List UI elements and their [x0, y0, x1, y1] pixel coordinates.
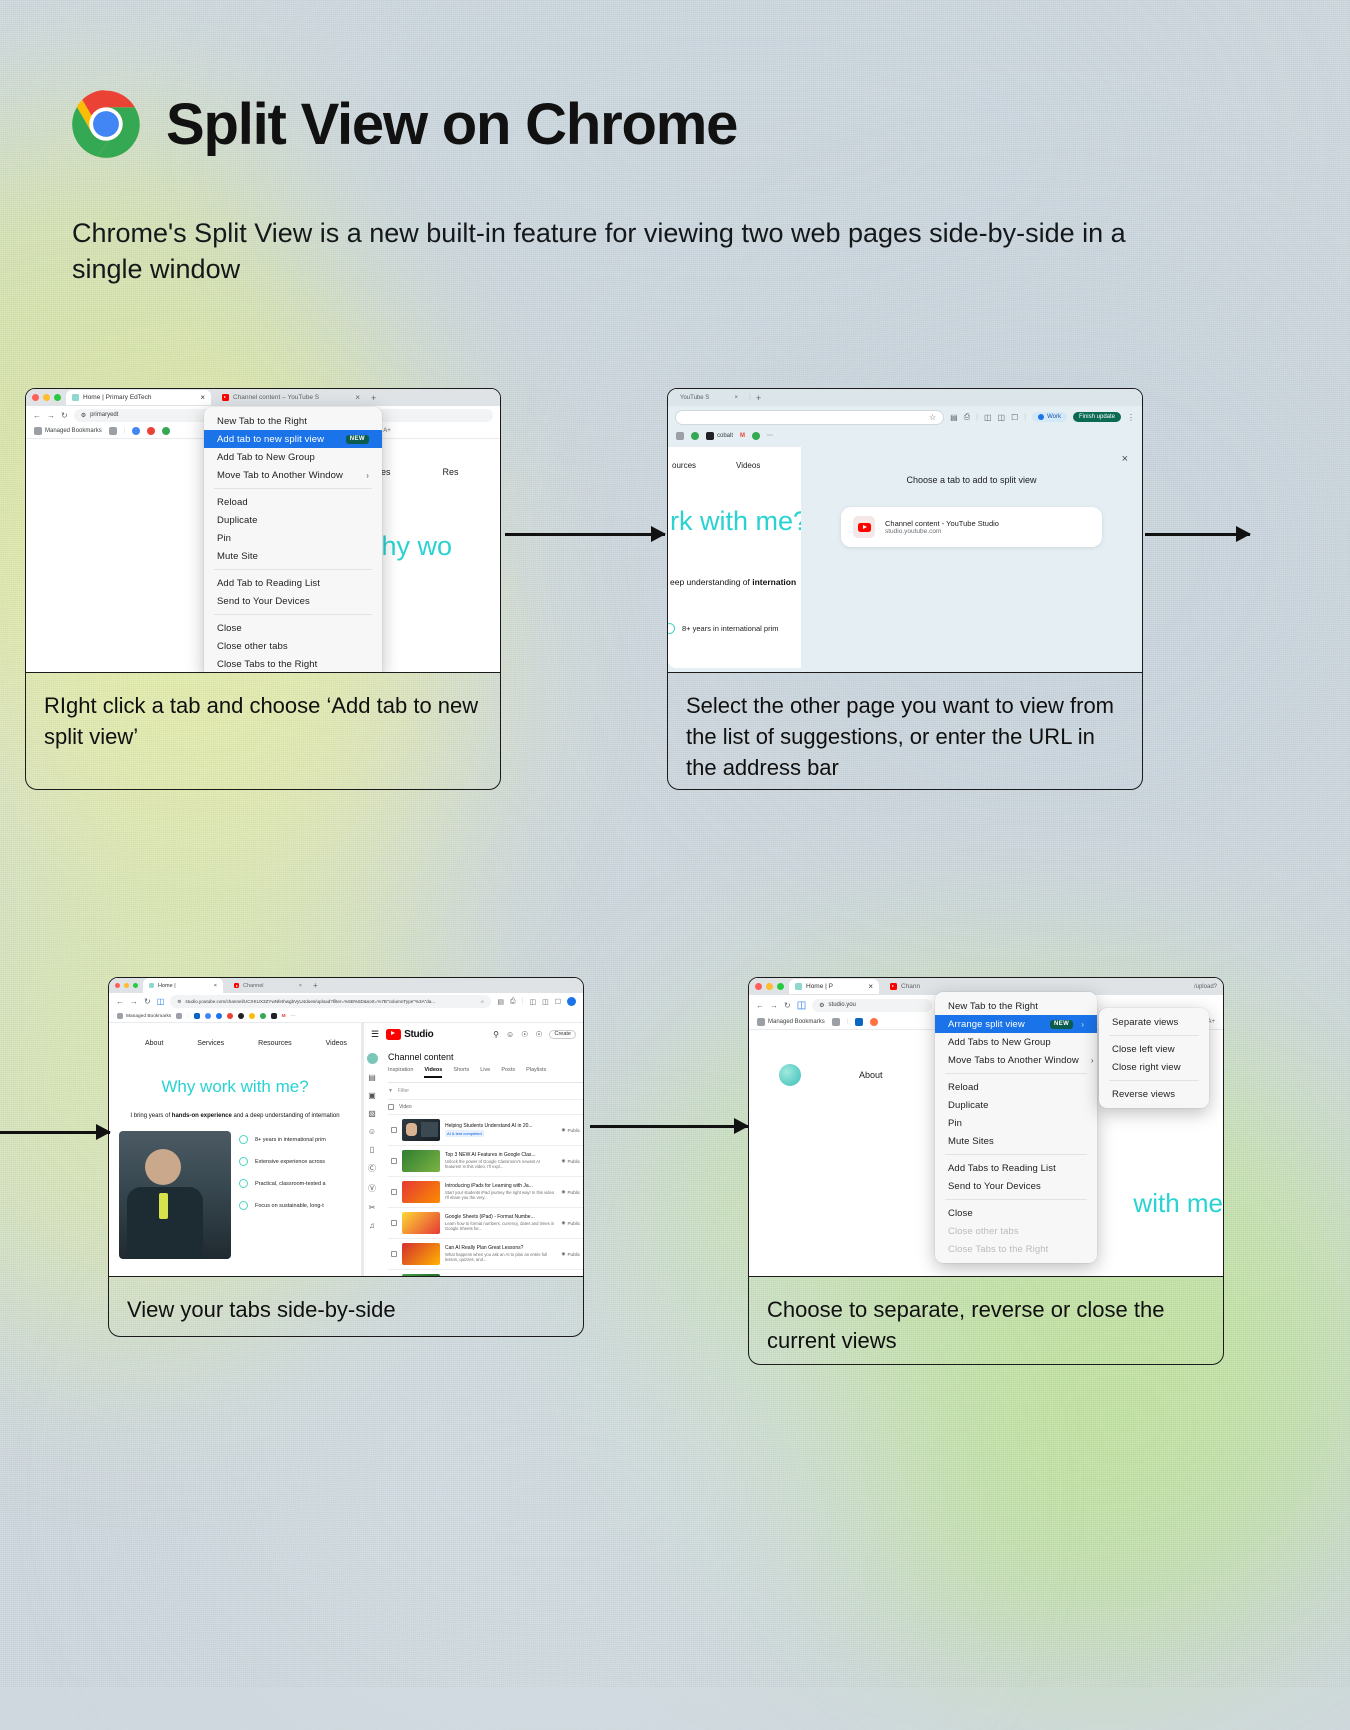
notifications-icon[interactable]: ☉ [535, 1030, 542, 1039]
extensions-icon[interactable]: ▤ [950, 413, 958, 422]
row-checkbox[interactable] [391, 1220, 397, 1226]
bookmark-cobalt[interactable] [271, 1013, 277, 1019]
address-bar[interactable]: ⚙ studio.you [812, 999, 932, 1012]
create-button[interactable]: Create [549, 1030, 576, 1039]
chooser-tab-option[interactable]: Channel content - YouTube Studio studio.… [841, 507, 1102, 547]
tab-label: Channel content – YouTube S [233, 394, 319, 401]
tab-strip: Home | Primary EdTech × Channel content … [26, 389, 500, 406]
bookmark-label: Managed Bookmarks [45, 428, 102, 434]
forward-icon[interactable]: → [47, 411, 55, 420]
step-4-caption: Choose to separate, reverse or close the… [748, 1277, 1224, 1365]
video-thumbnail [402, 1150, 440, 1172]
close-icon[interactable]: × [355, 393, 360, 402]
gmail-icon[interactable]: M [740, 433, 745, 439]
step-4-screenshot: Home | P × Chann /upload? ← → ↻ ◫ ⚙ [748, 977, 1224, 1277]
visibility-cell: ◉Public [561, 1158, 580, 1164]
back-icon[interactable]: ← [756, 1001, 764, 1010]
apps-grid-icon[interactable] [676, 432, 684, 440]
community-icon[interactable]: ☺ [368, 1127, 376, 1136]
site-bullet: Focus on sustainable, long-t [239, 1201, 351, 1210]
close-icon[interactable]: × [214, 983, 217, 989]
cobalt-icon [706, 432, 714, 440]
row-checkbox[interactable] [391, 1189, 397, 1195]
table-row[interactable]: Google Sheets (iPad 2025): Start He... ◉… [388, 1269, 583, 1276]
reload-icon[interactable]: ↻ [61, 411, 68, 420]
menu-item-pin[interactable]: Pin [204, 529, 382, 547]
menu-item-send-to-your-devices[interactable]: Send to Your Devices [935, 1177, 1097, 1195]
edtech-favicon-icon [72, 394, 79, 401]
avatar-icon [1038, 414, 1044, 420]
search-icon[interactable]: ⚲ [493, 1030, 499, 1039]
site-headline: Why work with me? [109, 1077, 361, 1097]
maximize-window-dot[interactable] [133, 983, 138, 988]
menu-item-reload[interactable]: Reload [204, 493, 382, 511]
bookmark-managed[interactable]: Managed Bookmarks [117, 1013, 171, 1019]
new-tab-button[interactable]: + [371, 393, 376, 403]
site-settings-icon[interactable]: ⚙ [177, 999, 181, 1005]
analytics-icon[interactable]: ▧ [368, 1109, 376, 1118]
split-view-chooser-pane: × Choose a tab to add to split view Chan… [805, 447, 1138, 668]
select-all-checkbox[interactable] [388, 1104, 394, 1110]
menu-item-arrange-split-view[interactable]: Arrange split view NEW › [935, 1015, 1097, 1033]
back-icon[interactable]: ← [116, 997, 124, 1006]
table-row[interactable]: Top 3 NEW AI Features in Google Clas... … [388, 1145, 583, 1176]
cobalt-icon [271, 1013, 277, 1019]
browser-tab-home[interactable]: Home | P × [789, 979, 879, 994]
folder-icon [34, 427, 42, 435]
presenter-photo [119, 1131, 231, 1259]
url-text: primaryedt [90, 412, 118, 418]
bookmark-icon-5[interactable] [249, 1013, 255, 1019]
close-window-dot[interactable] [115, 983, 120, 988]
submenu-item-reverse-views[interactable]: Reverse views [1099, 1085, 1209, 1103]
chooser-title: Choose a tab to add to split view [805, 475, 1138, 485]
menu-separator [214, 569, 372, 570]
subtitles-icon[interactable]: ▯ [370, 1145, 374, 1154]
step-2-caption: Select the other page you want to view f… [667, 673, 1143, 790]
site-bullet: Extensive experience across [239, 1157, 351, 1166]
split-view-toggle-icon[interactable]: ◫ [797, 1000, 806, 1011]
site-body-text: and a deep understanding of internation [232, 1113, 340, 1119]
youtube-favicon-icon [890, 983, 897, 990]
menu-separator [945, 1199, 1087, 1200]
browser-tab-youtube[interactable]: YouTube S × [674, 390, 744, 405]
visibility-cell: ◉Public [561, 1220, 580, 1226]
address-bar[interactable]: ☆ [675, 410, 944, 425]
site-bullet: Practical, classroom-tested a [239, 1179, 351, 1188]
menu-item-send-to-your-devices[interactable]: Send to Your Devices [204, 592, 382, 610]
youtube-favicon-icon [234, 983, 239, 988]
filter-icon[interactable]: ▼ [388, 1088, 393, 1094]
studio-tab-inspiration[interactable]: Inspiration [388, 1067, 413, 1078]
content-icon[interactable]: ▣ [368, 1091, 376, 1100]
bookmark-icon-2[interactable] [752, 432, 760, 440]
site-headline: with me [1133, 1188, 1223, 1219]
menu-item-close[interactable]: Close [204, 619, 382, 637]
site-bullet: 8+ years in international prim [668, 623, 801, 634]
table-row[interactable]: Google Sheets (iPad) - Format Numbe... L… [388, 1207, 583, 1238]
minimize-window-dot[interactable] [124, 983, 129, 988]
split-view-toggle-icon[interactable]: ◫ [157, 997, 165, 1006]
tab-search-icon[interactable]: ☐ [1011, 413, 1018, 422]
video-thumbnail [402, 1212, 440, 1234]
menu-item-add-tab-reading-list[interactable]: Add Tab to Reading List [204, 574, 382, 592]
site-body-bold: hands-on experience [172, 1113, 232, 1119]
menu-separator [945, 1073, 1087, 1074]
window-controls[interactable] [32, 394, 61, 401]
menu-item-new-tab-right[interactable]: New Tab to the Right [935, 997, 1097, 1015]
bookmark-icon-1[interactable] [132, 427, 140, 435]
video-badge: AI & test completed [445, 1130, 484, 1137]
intro-paragraph: Chrome's Split View is a new built-in fe… [72, 215, 1182, 288]
bookmark-icon-3[interactable] [227, 1013, 233, 1019]
minimize-window-dot[interactable] [43, 394, 50, 401]
video-thumbnail [402, 1181, 440, 1203]
site-body-bold: hands-on experience [844, 1275, 939, 1277]
menu-item-close[interactable]: Close [935, 1204, 1097, 1222]
maximize-window-dot[interactable] [54, 394, 61, 401]
bookmark-cobalt[interactable]: cobalt [706, 432, 733, 440]
site-nav-item[interactable]: About [145, 1040, 163, 1047]
site-settings-icon[interactable]: ⚙ [81, 412, 86, 419]
edtech-favicon-icon [795, 983, 802, 990]
studio-header: ☰ Studio ⚲ ☺ ☉ ☉ Create [364, 1023, 583, 1046]
bullet-icon [668, 623, 675, 634]
submenu-item-close-left-view[interactable]: Close left view [1099, 1040, 1209, 1058]
row-checkbox[interactable] [391, 1127, 397, 1133]
reload-icon[interactable]: ↻ [784, 1001, 791, 1010]
menu-item-close-other-tabs[interactable]: Close other tabs [204, 637, 382, 655]
site-body-text: eep understanding of [670, 577, 752, 587]
video-thumbnail [402, 1119, 440, 1141]
split-view-icon[interactable]: ◫ [984, 413, 992, 422]
tab-search-icon[interactable]: ☐ [555, 998, 561, 1006]
site-body-text: and a deep understanding of [940, 1275, 1066, 1277]
visibility-cell: ◉Public [561, 1251, 580, 1257]
close-icon[interactable]: × [868, 982, 873, 991]
close-icon[interactable]: × [299, 983, 302, 989]
bookmark-icon-linkedin[interactable] [194, 1013, 200, 1019]
row-checkbox[interactable] [391, 1251, 397, 1257]
apps-grid-icon[interactable] [109, 427, 117, 435]
chevron-right-icon: › [1091, 1056, 1094, 1065]
share-icon[interactable]: ⎙ [510, 998, 516, 1006]
menu-item-duplicate[interactable]: Duplicate [204, 511, 382, 529]
site-nav-item[interactable]: About [859, 1070, 883, 1080]
omnibox-row: ☆ ▤ ⎙ | ◫ ◫ ☐ | Work Finish update ⋮ [668, 406, 1142, 428]
bullet-icon [239, 1157, 248, 1166]
youtube-studio-logo: Studio [386, 1029, 433, 1040]
copyright-icon[interactable]: Ⓒ [368, 1163, 376, 1174]
step-1-caption: RIght click a tab and choose ‘Add tab to… [25, 673, 501, 790]
gmail-icon[interactable]: M [282, 1014, 286, 1019]
browser-tab-channel[interactable]: Channel × [228, 978, 308, 993]
forward-icon[interactable]: → [130, 997, 138, 1006]
bookmark-icon-1[interactable] [691, 432, 699, 440]
url-text: studio.you [829, 1002, 856, 1008]
step-2-card: YouTube S × | + ☆ ▤ ⎙ | ◫ ◫ ☐ | [667, 388, 1143, 790]
table-row[interactable]: Introducing iPads for Learning with Ja..… [388, 1176, 583, 1207]
hamburger-icon[interactable]: ☰ [371, 1029, 379, 1040]
close-window-dot[interactable] [32, 394, 39, 401]
profile-pill[interactable]: Work [1032, 412, 1067, 422]
site-body-bold: internation [752, 577, 796, 587]
earn-icon[interactable]: Ⓥ [368, 1183, 376, 1194]
step-4-card: Home | P × Chann /upload? ← → ↻ ◫ ⚙ [748, 977, 1224, 1365]
menu-item-mute-sites[interactable]: Mute Sites [935, 1132, 1097, 1150]
menu-item-duplicate[interactable]: Duplicate [935, 1096, 1097, 1114]
chooser-item-title: Channel content - YouTube Studio [885, 519, 999, 528]
reading-list-icon[interactable]: ◫ [542, 998, 549, 1006]
site-settings-icon[interactable]: ⚙ [819, 1002, 824, 1009]
close-icon[interactable]: × [1122, 453, 1128, 465]
avatar[interactable] [367, 1053, 378, 1064]
edtech-favicon-icon [149, 983, 154, 988]
new-badge: NEW [346, 435, 369, 444]
step-2-screenshot: YouTube S × | + ☆ ▤ ⎙ | ◫ ◫ ☐ | [667, 388, 1143, 673]
tab-label: Home | Primary EdTech [83, 394, 152, 401]
reload-icon[interactable]: ↻ [144, 997, 151, 1006]
chooser-item-url: studio.youtube.com [885, 528, 999, 535]
studio-tab-live[interactable]: Live [480, 1067, 490, 1078]
site-bullet: 8+ years in international prim [239, 1135, 351, 1144]
site-body-bold: inter [1066, 1275, 1087, 1277]
site-nav-item[interactable]: Services [197, 1040, 224, 1047]
avatar[interactable] [567, 997, 576, 1006]
split-view-context-menu[interactable]: New Tab to the Right Arrange split view … [935, 992, 1097, 1263]
step-3-caption: View your tabs side-by-side [108, 1277, 584, 1337]
chevron-right-icon: › [1081, 1020, 1084, 1029]
finish-update-pill[interactable]: Finish update [1073, 412, 1121, 422]
site-logo-icon [779, 1064, 801, 1086]
bookmarks-bar: cobalt M ⋯ [668, 428, 1142, 443]
url-text: studio.youtube.com/channel/UCXKUX3ZYwNfe… [185, 999, 435, 1004]
step-1-screenshot: Home | Primary EdTech × Channel content … [25, 388, 501, 673]
studio-page-title: Channel content [388, 1046, 583, 1067]
more-bookmarks-icon[interactable]: ⋯ [767, 432, 773, 439]
bookmark-managed[interactable]: Managed Bookmarks [757, 1018, 825, 1026]
new-badge: NEW [1050, 1020, 1073, 1029]
column-header-video: Video [399, 1104, 412, 1110]
video-description: Unlock the power of Google Classroom's n… [445, 1159, 556, 1170]
site-nav-item[interactable]: Res [443, 467, 459, 477]
bookmark-icon-4[interactable] [238, 1013, 244, 1019]
more-menu-icon[interactable]: ⋮ [1127, 413, 1135, 422]
menu-separator [214, 488, 372, 489]
youtube-studio-pane: ☰ Studio ⚲ ☺ ☉ ☉ Create [364, 1023, 583, 1276]
window-controls[interactable] [755, 983, 784, 990]
new-tab-button[interactable]: + [313, 981, 318, 990]
omnibox-row: ← → ↻ ◫ ⚙ studio.youtube.com/channel/UCX… [109, 993, 583, 1010]
minimize-window-dot[interactable] [766, 983, 773, 990]
bookmarks-bar: Managed Bookmarks | M ⋯ [109, 1010, 583, 1023]
menu-item-close-tabs-to-right[interactable]: Close Tabs to the Right [204, 655, 382, 673]
menu-item-move-tab-another-window[interactable]: Move Tab to Another Window › [204, 466, 382, 484]
apps-grid-icon[interactable] [832, 1018, 840, 1026]
studio-tab-shorts[interactable]: Shorts [453, 1067, 469, 1078]
aplus-icon[interactable]: A+ [383, 428, 391, 434]
table-row[interactable]: Helping Students Understand AI in 20... … [388, 1114, 583, 1145]
menu-item-reload[interactable]: Reload [935, 1078, 1097, 1096]
extensions-icon[interactable]: ▤ [497, 998, 504, 1006]
row-checkbox[interactable] [391, 1158, 397, 1164]
bookmark-icon-3[interactable] [162, 427, 170, 435]
audio-library-icon[interactable]: ♫ [369, 1221, 375, 1230]
youtube-favicon-icon [222, 394, 229, 401]
apps-grid-icon[interactable] [176, 1013, 182, 1019]
menu-item-add-tabs-reading-list[interactable]: Add Tabs to Reading List [935, 1159, 1097, 1177]
video-description: Learn how to format numbers, currency, d… [445, 1221, 556, 1232]
bullet-icon [239, 1201, 248, 1210]
page-header: Split View on Chrome [72, 90, 737, 158]
video-thumbnail [402, 1243, 440, 1265]
menu-separator [214, 614, 372, 615]
studio-tab-posts[interactable]: Posts [501, 1067, 515, 1078]
step-1-card: Home | Primary EdTech × Channel content … [25, 388, 501, 790]
folder-icon [757, 1018, 765, 1026]
menu-separator [1109, 1080, 1199, 1081]
youtube-icon [853, 516, 875, 538]
tab-strip: YouTube S × | + [668, 389, 1142, 406]
menu-item-mute-site[interactable]: Mute Site [204, 547, 382, 565]
menu-item-close-other-tabs: Close other tabs [935, 1222, 1097, 1240]
studio-tab-playlists[interactable]: Playlists [526, 1067, 546, 1078]
step-3-card: Home | × Channel × + ← → ↻ ◫ [108, 977, 584, 1337]
site-nav: About Services Resources Videos Blog [109, 1023, 361, 1063]
reading-list-icon[interactable]: ◫ [998, 413, 1006, 422]
filter-label[interactable]: Filter [398, 1088, 409, 1094]
menu-item-close-tabs-to-right: Close Tabs to the Right [935, 1240, 1097, 1258]
window-controls[interactable] [115, 983, 138, 988]
bookmark-managed[interactable]: Managed Bookmarks [34, 427, 102, 435]
close-icon[interactable]: × [734, 395, 738, 401]
site-headline: rk with me? [670, 506, 801, 537]
new-tab-button[interactable]: + [756, 393, 761, 403]
customisation-icon[interactable]: ✂ [369, 1203, 376, 1212]
help-icon[interactable]: ☉ [521, 1030, 528, 1039]
upload-url-fragment: /upload? [1194, 984, 1217, 990]
dashboard-icon[interactable]: ▤ [368, 1073, 376, 1082]
site-nav-item[interactable]: ources [672, 461, 696, 470]
share-icon[interactable]: ⎙ [964, 412, 970, 422]
bookmark-icon-1[interactable] [205, 1013, 211, 1019]
menu-item-add-tabs-new-group[interactable]: Add Tabs to New Group [935, 1033, 1097, 1051]
browser-tab-home[interactable]: Home | Primary EdTech × [66, 390, 211, 405]
feedback-icon[interactable]: ☺ [506, 1030, 514, 1039]
site-nav-item[interactable]: Videos [326, 1040, 347, 1047]
table-row[interactable]: Can AI Really Plan Great Lessons? What h… [388, 1238, 583, 1269]
bookmark-icon-2[interactable] [147, 427, 155, 435]
forward-icon[interactable]: → [770, 1001, 778, 1010]
folder-icon [117, 1013, 123, 1019]
site-nav-item[interactable]: Videos [736, 461, 760, 470]
browser-tab-channel-content[interactable]: Channel content – YouTube S × [216, 390, 366, 405]
close-window-dot[interactable] [755, 983, 762, 990]
chevron-right-icon: › [366, 471, 369, 480]
back-icon[interactable]: ← [33, 411, 41, 420]
site-nav-item[interactable]: Resources [258, 1040, 291, 1047]
bookmark-icon-1[interactable] [870, 1018, 878, 1026]
bookmark-icon-linkedin[interactable] [855, 1018, 863, 1026]
site-body-text: I bring years of [130, 1113, 171, 1119]
bookmark-icon-2[interactable] [216, 1013, 222, 1019]
visibility-cell: ◉Public [561, 1189, 580, 1195]
address-bar[interactable]: ⚙ studio.youtube.com/channel/UCXKUX3ZYwN… [170, 995, 491, 1008]
tab-group-icon[interactable]: ◫ [529, 998, 536, 1006]
submenu-item-separate-views[interactable]: Separate views [1099, 1013, 1209, 1031]
menu-item-pin[interactable]: Pin [935, 1114, 1097, 1132]
menu-item-move-tabs-another-window[interactable]: Move Tabs to Another Window › [935, 1051, 1097, 1069]
studio-side-rail: ▤ ▣ ▧ ☺ ▯ Ⓒ Ⓥ ✂ ♫ [364, 1046, 380, 1276]
bookmark-star-icon[interactable]: ☆ [929, 413, 936, 422]
maximize-window-dot[interactable] [777, 983, 784, 990]
studio-tab-videos[interactable]: Videos [424, 1067, 442, 1078]
chrome-logo-icon [72, 90, 140, 158]
menu-separator [945, 1154, 1087, 1155]
page-title: Split View on Chrome [166, 91, 737, 158]
studio-tabs: Inspiration Videos Shorts Live Posts Pla… [388, 1067, 583, 1083]
bullet-icon [239, 1179, 248, 1188]
menu-separator [1109, 1035, 1199, 1036]
bookmark-star-icon[interactable]: ☆ [480, 999, 484, 1005]
browser-tab-home[interactable]: Home | × [143, 978, 223, 993]
more-bookmarks-icon[interactable]: ⋯ [291, 1014, 296, 1019]
menu-item-add-tab-new-group[interactable]: Add Tab to New Group [204, 448, 382, 466]
bookmark-icon-6[interactable] [260, 1013, 266, 1019]
video-description: Start your students iPad journey the rig… [445, 1190, 556, 1201]
video-title[interactable]: Helping Students Understand AI in 20... [445, 1123, 556, 1129]
menu-item-new-tab-right[interactable]: New Tab to the Right [204, 412, 382, 430]
step-3-screenshot: Home | × Channel × + ← → ↻ ◫ [108, 977, 584, 1277]
bullet-icon [239, 1135, 248, 1144]
video-thumbnail [402, 1274, 440, 1276]
menu-item-add-tab-new-split-view[interactable]: Add tab to new split view NEW [204, 430, 382, 448]
tab-strip: Home | × Channel × + [109, 978, 583, 993]
video-description: What happens when you ask an AI to plan … [445, 1252, 556, 1263]
visibility-cell: ◉Public [561, 1127, 580, 1133]
tab-context-menu[interactable]: New Tab to the Right Add tab to new spli… [204, 407, 382, 673]
tab-label: YouTube S [680, 395, 709, 401]
site-body-text: I bring years of [779, 1275, 844, 1277]
site-nav-item[interactable]: Blog [800, 461, 801, 470]
arrange-split-view-submenu[interactable]: Separate views Close left view Close rig… [1099, 1008, 1209, 1108]
submenu-item-close-right-view[interactable]: Close right view [1099, 1058, 1209, 1076]
close-icon[interactable]: × [200, 393, 205, 402]
